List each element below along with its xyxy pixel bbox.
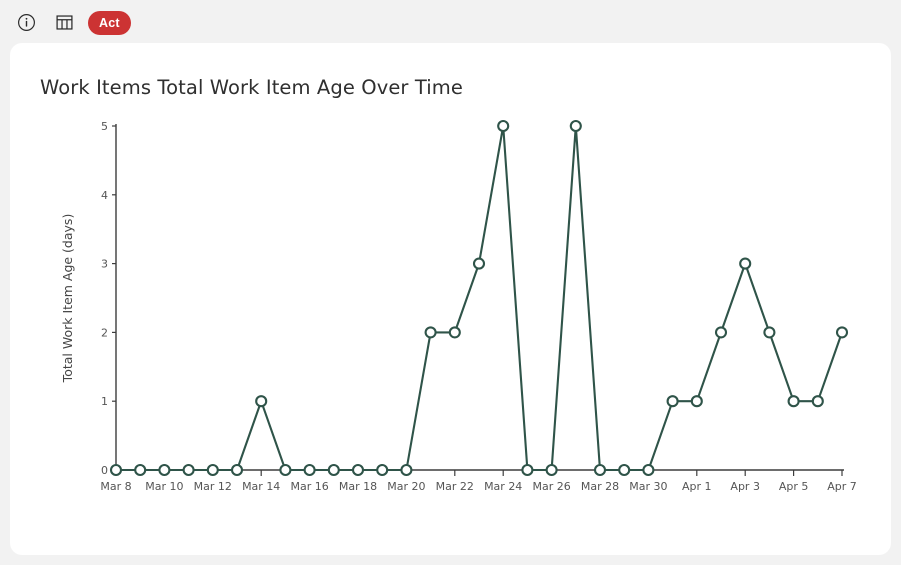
series-path bbox=[116, 126, 842, 470]
data-point[interactable]: Mar 18: 0 bbox=[353, 465, 363, 475]
data-point[interactable]: Mar 16: 0 bbox=[305, 465, 315, 475]
act-button[interactable]: Act bbox=[88, 11, 131, 35]
info-circle-icon[interactable] bbox=[12, 9, 40, 37]
x-tick-label: Mar 20 bbox=[387, 480, 425, 493]
x-tick-label: Apr 5 bbox=[779, 480, 809, 493]
y-tick-label: 3 bbox=[101, 258, 108, 271]
x-tick-label: Mar 10 bbox=[145, 480, 183, 493]
data-point[interactable]: Mar 14: 1 bbox=[256, 396, 266, 406]
data-point[interactable]: Mar 8: 0 bbox=[111, 465, 121, 475]
x-tick-label: Mar 18 bbox=[339, 480, 377, 493]
x-tick-label: Mar 28 bbox=[581, 480, 619, 493]
data-point[interactable]: Apr 7: 2 bbox=[837, 327, 847, 337]
data-point[interactable]: Mar 13: 0 bbox=[232, 465, 242, 475]
data-point[interactable]: Apr 4: 2 bbox=[764, 327, 774, 337]
y-tick-label: 0 bbox=[101, 464, 108, 477]
x-tick-label: Mar 12 bbox=[194, 480, 232, 493]
data-point[interactable]: Mar 22: 2 bbox=[450, 327, 460, 337]
data-point[interactable]: Mar 21: 2 bbox=[426, 327, 436, 337]
data-point[interactable]: Mar 10: 0 bbox=[159, 465, 169, 475]
y-tick-label: 5 bbox=[101, 120, 108, 133]
data-point[interactable]: Apr 1: 1 bbox=[692, 396, 702, 406]
x-tick-label: Mar 22 bbox=[436, 480, 474, 493]
x-tick-label: Apr 3 bbox=[730, 480, 760, 493]
data-point[interactable]: Mar 15: 0 bbox=[280, 465, 290, 475]
y-tick-label: 1 bbox=[101, 395, 108, 408]
data-point[interactable]: Mar 26: 0 bbox=[547, 465, 557, 475]
data-point[interactable]: Apr 6: 1 bbox=[813, 396, 823, 406]
x-tick-label: Apr 1 bbox=[682, 480, 712, 493]
data-point[interactable]: Apr 5: 1 bbox=[789, 396, 799, 406]
data-point[interactable]: Mar 20: 0 bbox=[401, 465, 411, 475]
data-series: Mar 8: 0Mar 9: 0Mar 10: 0Mar 11: 0Mar 12… bbox=[111, 121, 847, 475]
data-point[interactable]: Mar 23: 3 bbox=[474, 259, 484, 269]
y-axis: 012345 bbox=[101, 120, 116, 477]
data-point[interactable]: Apr 2: 2 bbox=[716, 327, 726, 337]
chart-card: Work Items Total Work Item Age Over Time… bbox=[10, 43, 891, 555]
line-chart: 012345 Mar 8Mar 10Mar 12Mar 14Mar 16Mar … bbox=[10, 43, 891, 555]
data-point[interactable]: Mar 25: 0 bbox=[522, 465, 532, 475]
chart-plot-area: 012345 Mar 8Mar 10Mar 12Mar 14Mar 16Mar … bbox=[10, 43, 891, 555]
data-point[interactable]: Mar 28: 0 bbox=[595, 465, 605, 475]
table-grid-icon[interactable] bbox=[50, 9, 78, 37]
data-point[interactable]: Mar 17: 0 bbox=[329, 465, 339, 475]
data-point[interactable]: Mar 9: 0 bbox=[135, 465, 145, 475]
x-tick-label: Mar 26 bbox=[532, 480, 570, 493]
x-tick-label: Apr 7 bbox=[827, 480, 857, 493]
x-tick-label: Mar 30 bbox=[629, 480, 667, 493]
x-tick-label: Mar 24 bbox=[484, 480, 522, 493]
y-tick-label: 2 bbox=[101, 326, 108, 339]
y-tick-label: 4 bbox=[101, 189, 108, 202]
data-point[interactable]: Apr 3: 3 bbox=[740, 259, 750, 269]
data-point[interactable]: Mar 12: 0 bbox=[208, 465, 218, 475]
data-point[interactable]: Mar 31: 1 bbox=[668, 396, 678, 406]
x-tick-label: Mar 8 bbox=[100, 480, 131, 493]
data-point[interactable]: Mar 19: 0 bbox=[377, 465, 387, 475]
x-tick-label: Mar 16 bbox=[290, 480, 328, 493]
y-axis-label: Total Work Item Age (days) bbox=[60, 214, 75, 384]
data-point[interactable]: Mar 24: 5 bbox=[498, 121, 508, 131]
data-point[interactable]: Mar 11: 0 bbox=[184, 465, 194, 475]
toolbar: Act bbox=[0, 0, 901, 45]
data-point[interactable]: Mar 30: 0 bbox=[643, 465, 653, 475]
x-tick-label: Mar 14 bbox=[242, 480, 280, 493]
data-point[interactable]: Mar 27: 5 bbox=[571, 121, 581, 131]
data-point[interactable]: Mar 29: 0 bbox=[619, 465, 629, 475]
